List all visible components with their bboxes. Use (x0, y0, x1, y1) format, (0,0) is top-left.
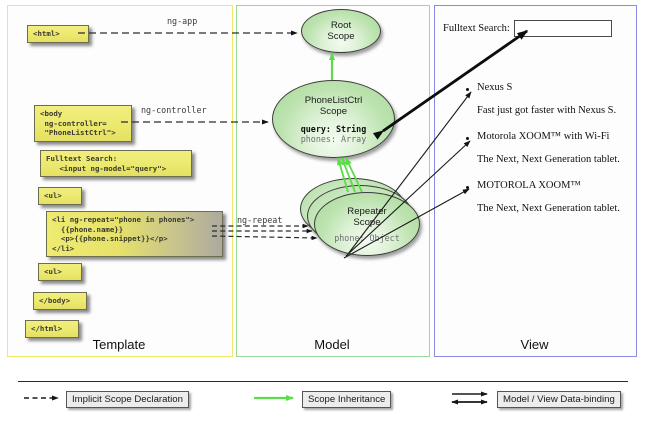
scope-phonelistctrl-line2: Scope (320, 106, 347, 117)
code-box-li-ng-repeat: <li ng-repeat="phone in phones"> {{phone… (46, 211, 223, 257)
bullet-dot (466, 186, 469, 189)
scope-property-query: query: String (301, 124, 367, 134)
edge-label-ng-controller: ng-controller (141, 105, 207, 115)
code-box-fulltext-search-markup: Fulltext Search: <input ng-model="query"… (40, 150, 192, 177)
code-box-ul-close: <ul> (38, 263, 82, 281)
panel-label-view: View (434, 337, 635, 352)
panel-label-model: Model (236, 337, 428, 352)
phone-snippet: The Next, Next Generation tablet. (477, 154, 620, 165)
edge-label-ng-app: ng-app (167, 16, 197, 26)
scope-phonelistctrl-line1: PhoneListCtrl (305, 95, 363, 106)
code-box-html-open: <html> (27, 25, 89, 43)
legend-scope-inheritance: Scope Inheritance (302, 391, 391, 408)
scope-root: Root Scope (301, 9, 381, 53)
legend-implicit-scope-declaration: Implicit Scope Declaration (66, 391, 189, 408)
phone-snippet: The Next, Next Generation tablet. (477, 203, 620, 214)
edge-label-ng-repeat: ng-repeat (237, 215, 282, 225)
scope-root-line1: Root (331, 20, 351, 31)
phone-title: MOTOROLA XOOM™ (477, 180, 581, 191)
scope-repeater-line1: Repeater (347, 206, 386, 217)
legend-divider (18, 381, 628, 382)
code-box-body-close: </body> (33, 292, 87, 310)
bullet-dot (466, 137, 469, 140)
fulltext-search-row: Fulltext Search: (443, 20, 612, 37)
scope-property-phones: phones: Array (301, 134, 367, 144)
scope-repeater-line2: Scope (353, 217, 380, 228)
scope-repeater: Repeater Scope phone: Object (314, 192, 420, 256)
scope-property-phone: phone: Object (334, 233, 400, 243)
phone-snippet: Fast just got faster with Nexus S. (477, 105, 616, 116)
code-box-ul-open: <ul> (38, 187, 82, 205)
phone-title: Nexus S (477, 82, 512, 93)
scope-phonelistctrl: PhoneListCtrl Scope query: String phones… (272, 80, 395, 158)
fulltext-search-label: Fulltext Search: (443, 23, 510, 34)
phone-title: Motorola XOOM™ with Wi-Fi (477, 131, 609, 142)
panel-label-template: Template (7, 337, 231, 352)
scope-root-line2: Scope (327, 31, 354, 42)
search-input[interactable] (514, 20, 612, 37)
bullet-dot (466, 88, 469, 91)
diagram-canvas: Template Model View <html> <body ng-cont… (0, 0, 645, 425)
legend-model-view-data-binding: Model / View Data-binding (497, 391, 621, 408)
legend-glyph-model-view-data-binding (452, 394, 487, 402)
code-box-html-close: </html> (25, 320, 79, 338)
code-box-body-controller: <body ng-controller= "PhoneListCtrl"> (34, 105, 132, 142)
